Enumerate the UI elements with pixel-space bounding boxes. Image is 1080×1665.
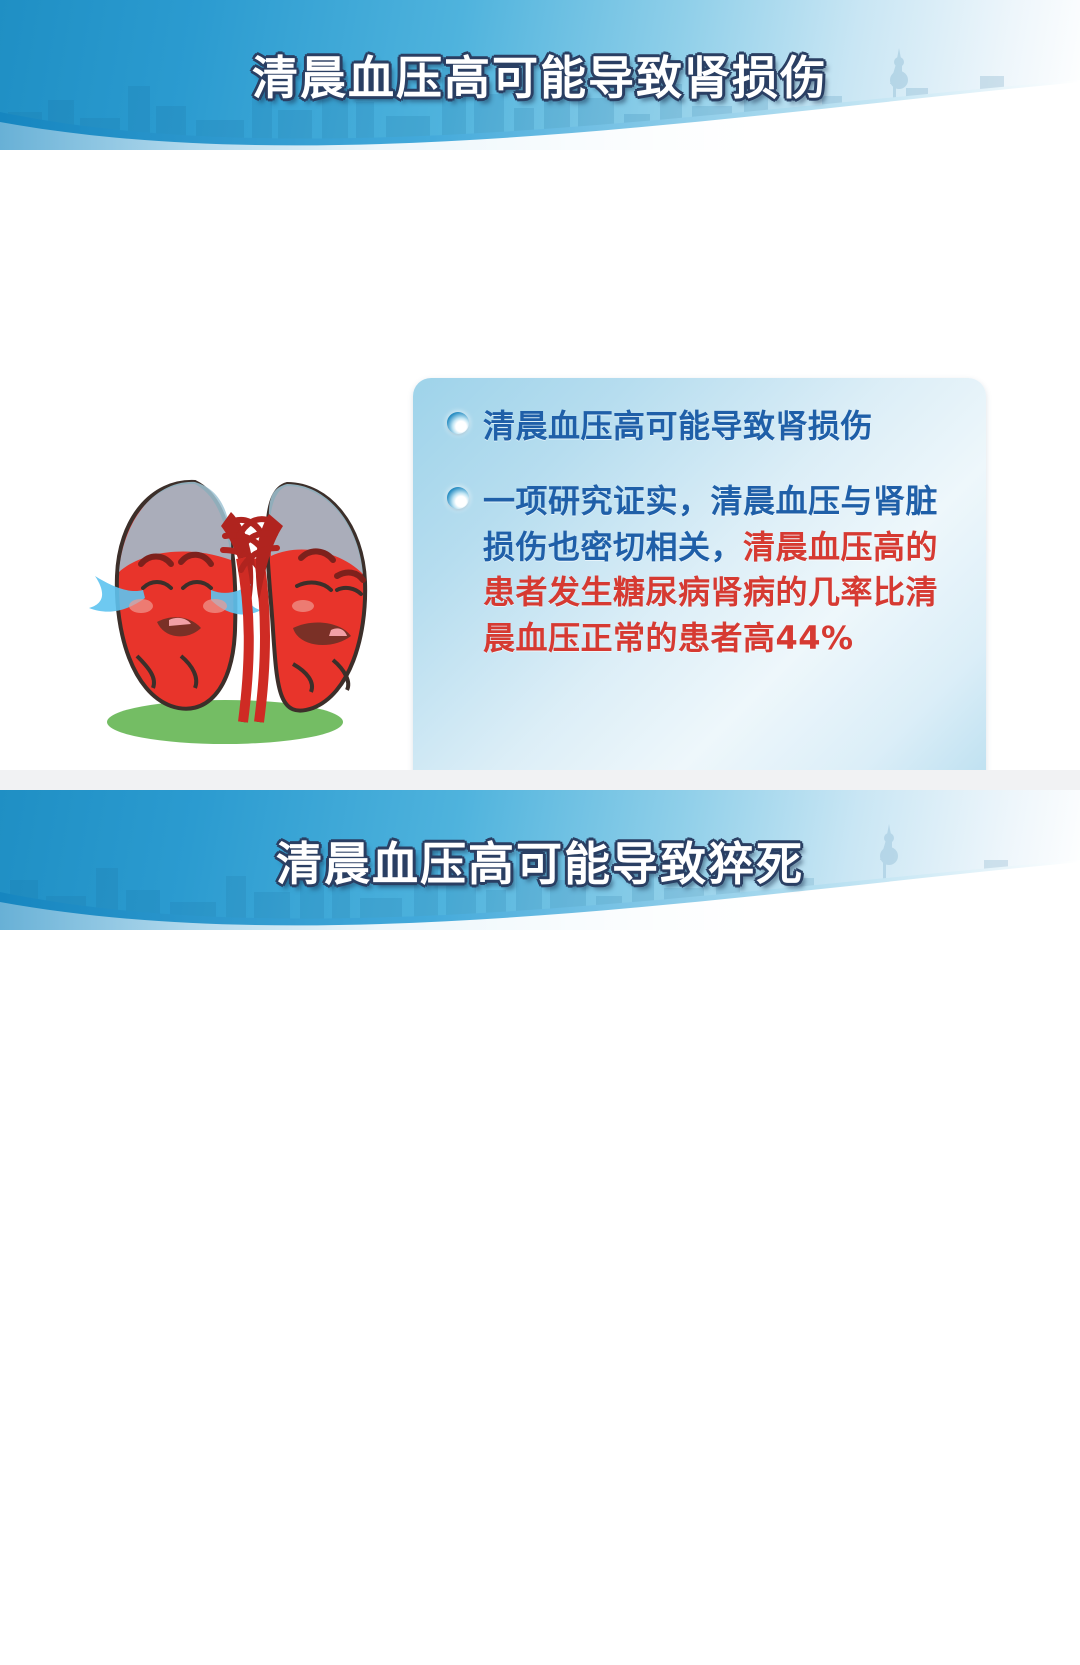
sphere-bullet-icon (447, 412, 469, 434)
poster-page: 清晨血压高可能导致肾损伤 (0, 0, 1080, 1665)
section-sudden-death-body: 120 (0, 930, 1080, 1665)
crying-kidneys-illustration (45, 440, 395, 750)
section-divider (0, 770, 1080, 790)
section-kidney-banner: 清晨血压高可能导致肾损伤 (0, 0, 1080, 150)
kidney-bullet-list: 清晨血压高可能导致肾损伤 一项研究证实，清晨血压与肾脏损伤也密切相关，清晨血压高… (447, 404, 966, 691)
bullet-run-blue: 清晨血压高可能导致肾损伤 (483, 407, 873, 445)
section-kidney: 清晨血压高可能导致肾损伤 (0, 0, 1080, 770)
bullet-text: 清晨血压高可能导致肾损伤 (483, 404, 966, 449)
list-item: 清晨血压高可能导致肾损伤 (447, 404, 966, 449)
bullet-text: 一项研究证实，清晨血压与肾脏损伤也密切相关，清晨血压高的患者发生糖尿病肾病的几率… (483, 479, 966, 661)
section-sudden-death: 清晨血压高可能导致猝死 (0, 790, 1080, 1665)
section-kidney-title: 清晨血压高可能导致肾损伤 (0, 42, 1080, 108)
sphere-bullet-icon (447, 487, 469, 509)
section-sudden-death-banner: 清晨血压高可能导致猝死 (0, 790, 1080, 930)
section-sudden-death-title: 清晨血压高可能导致猝死 (0, 828, 1080, 894)
kidney-info-card: 清晨血压高可能导致肾损伤 一项研究证实，清晨血压与肾脏损伤也密切相关，清晨血压高… (413, 378, 986, 770)
list-item: 一项研究证实，清晨血压与肾脏损伤也密切相关，清晨血压高的患者发生糖尿病肾病的几率… (447, 479, 966, 661)
section-kidney-body: 清晨血压高可能导致肾损伤 一项研究证实，清晨血压与肾脏损伤也密切相关，清晨血压高… (0, 150, 1080, 770)
